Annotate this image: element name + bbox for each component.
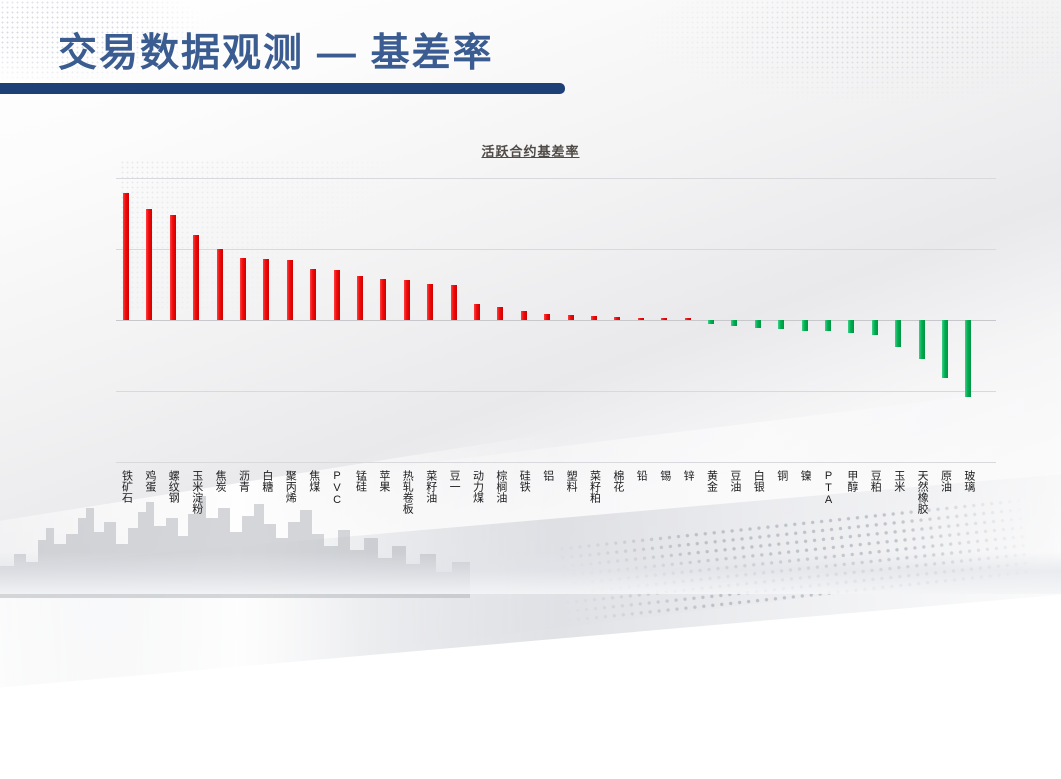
chart-bar [778,320,784,329]
chart-bar [217,249,223,320]
chart-bar [310,269,316,320]
x-axis-tick-label: 塑料 [565,470,576,492]
x-axis-tick-label: 菜籽油 [425,470,436,503]
x-axis-tick-label: 锰硅 [355,470,366,492]
chart-bar [965,320,971,397]
x-axis-tick-label: 黄金 [706,470,717,492]
title-underline-bar [0,83,565,94]
x-axis-tick-label: 锌 [682,470,693,481]
chart-bar [521,311,527,320]
chart-bar [755,320,761,328]
chart-bar [380,279,386,320]
x-axis-tick-label: 白银 [752,470,763,492]
x-axis-tick-label: 鸡蛋 [144,470,155,492]
chart-title: 活跃合约基差率 [0,141,1061,160]
dot-texture-top-right [560,0,1061,120]
chart-bar [123,193,129,320]
bottom-gradient-strip [0,552,1061,594]
chart-bar [497,307,503,320]
chart-bar [334,270,340,320]
chart-bar [708,320,714,324]
x-axis-tick-label: 铜 [776,470,787,481]
chart-bar [357,276,363,320]
chart-bar [170,215,176,320]
chart-bar [825,320,831,331]
chart-bar [661,318,667,320]
x-axis-tick-label: 豆粕 [869,470,880,492]
x-axis-tick-label: 原油 [940,470,951,492]
x-axis-tick-label: 玉米 [893,470,904,492]
bars-layer [116,178,996,462]
chart-bar [240,258,246,320]
chart-bar [919,320,925,359]
x-axis-tick-label: 聚丙烯 [284,470,295,503]
chart-bar [544,314,550,320]
chart-bar [474,304,480,320]
chart-bar [263,259,269,320]
chart-bar [895,320,901,347]
chart-bar [942,320,948,378]
x-axis-tick-label: 沥青 [238,470,249,492]
x-axis-tick-label: 棉花 [612,470,623,492]
chart-plot-area: 铁矿石鸡蛋螺纹钢玉米淀粉焦炭沥青白糖聚丙烯焦煤PVC锰硅苹果热轧卷板菜籽油豆一动… [116,178,996,462]
x-axis-tick-label: 苹果 [378,470,389,492]
chart-bar [404,280,410,320]
page-title: 交易数据观测 — 基差率 [58,22,494,78]
chart-bar [872,320,878,335]
x-axis-tick-label: PTA [823,470,834,506]
x-axis-tick-label: 铅 [635,470,646,481]
chart-bar [848,320,854,333]
x-axis-tick-label: 玻璃 [963,470,974,492]
x-axis-tick-label: 焦炭 [214,470,225,492]
x-axis-tick-label: 菜籽粕 [589,470,600,503]
chart-bar [193,235,199,320]
chart-bar [638,318,644,320]
chart-bar [591,316,597,320]
chart-bar [287,260,293,320]
chart-bar [427,284,433,320]
x-axis-tick-label: 硅铁 [518,470,529,492]
x-axis-tick-label: 螺纹钢 [167,470,178,503]
chart-bar [568,315,574,320]
x-axis-tick-label: 动力煤 [472,470,483,503]
chart-bar [802,320,808,331]
x-axis-tick-label: 白糖 [261,470,272,492]
x-axis-tick-label: 锡 [659,470,670,481]
x-axis-tick-label: 铝 [542,470,553,481]
chart-bar [685,318,691,320]
x-axis-tick-label: 豆油 [729,470,740,492]
chart-bar [146,209,152,320]
x-axis-tick-label: 铁矿石 [121,470,132,503]
x-axis-tick-label: 热轧卷板 [401,470,412,514]
grid-line [116,462,996,463]
x-axis-tick-label: 焦煤 [308,470,319,492]
chart-bar [731,320,737,326]
chart-bar [451,285,457,321]
x-axis-tick-label: 天然橡胶 [916,470,927,514]
x-axis-tick-label: 豆一 [448,470,459,492]
x-axis-tick-label: 玉米淀粉 [191,470,202,514]
x-axis-tick-label: PVC [331,470,342,506]
x-axis-tick-label: 甲醇 [846,470,857,492]
chart-bar [614,317,620,320]
x-axis-tick-label: 棕榈油 [495,470,506,503]
x-axis-tick-label: 镍 [799,470,810,481]
